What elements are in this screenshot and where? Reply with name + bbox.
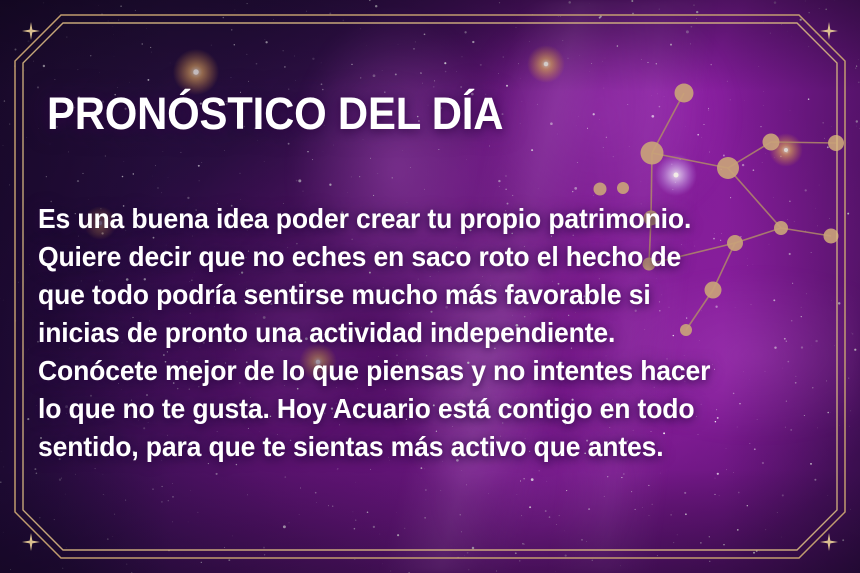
horoscope-line: Es una buena idea poder crear tu propio …	[38, 200, 800, 238]
page-title: PRONÓSTICO DEL DÍA	[47, 90, 503, 138]
horoscope-line: inicias de pronto una actividad independ…	[38, 314, 800, 352]
horoscope-line: que todo podría sentirse mucho más favor…	[38, 276, 800, 314]
horoscope-line: sentido, para que te sientas más activo …	[38, 428, 800, 466]
horoscope-line: Quiere decir que no eches en saco roto e…	[38, 238, 800, 276]
horoscope-line: Conócete mejor de lo que piensas y no in…	[38, 352, 800, 390]
horoscope-body-text: Es una buena idea poder crear tu propio …	[38, 200, 828, 466]
horoscope-card: PRONÓSTICO DEL DÍA Es una buena idea pod…	[0, 0, 860, 573]
card-content: PRONÓSTICO DEL DÍA Es una buena idea pod…	[0, 0, 860, 573]
horoscope-line: lo que no te gusta. Hoy Acuario está con…	[38, 390, 800, 428]
